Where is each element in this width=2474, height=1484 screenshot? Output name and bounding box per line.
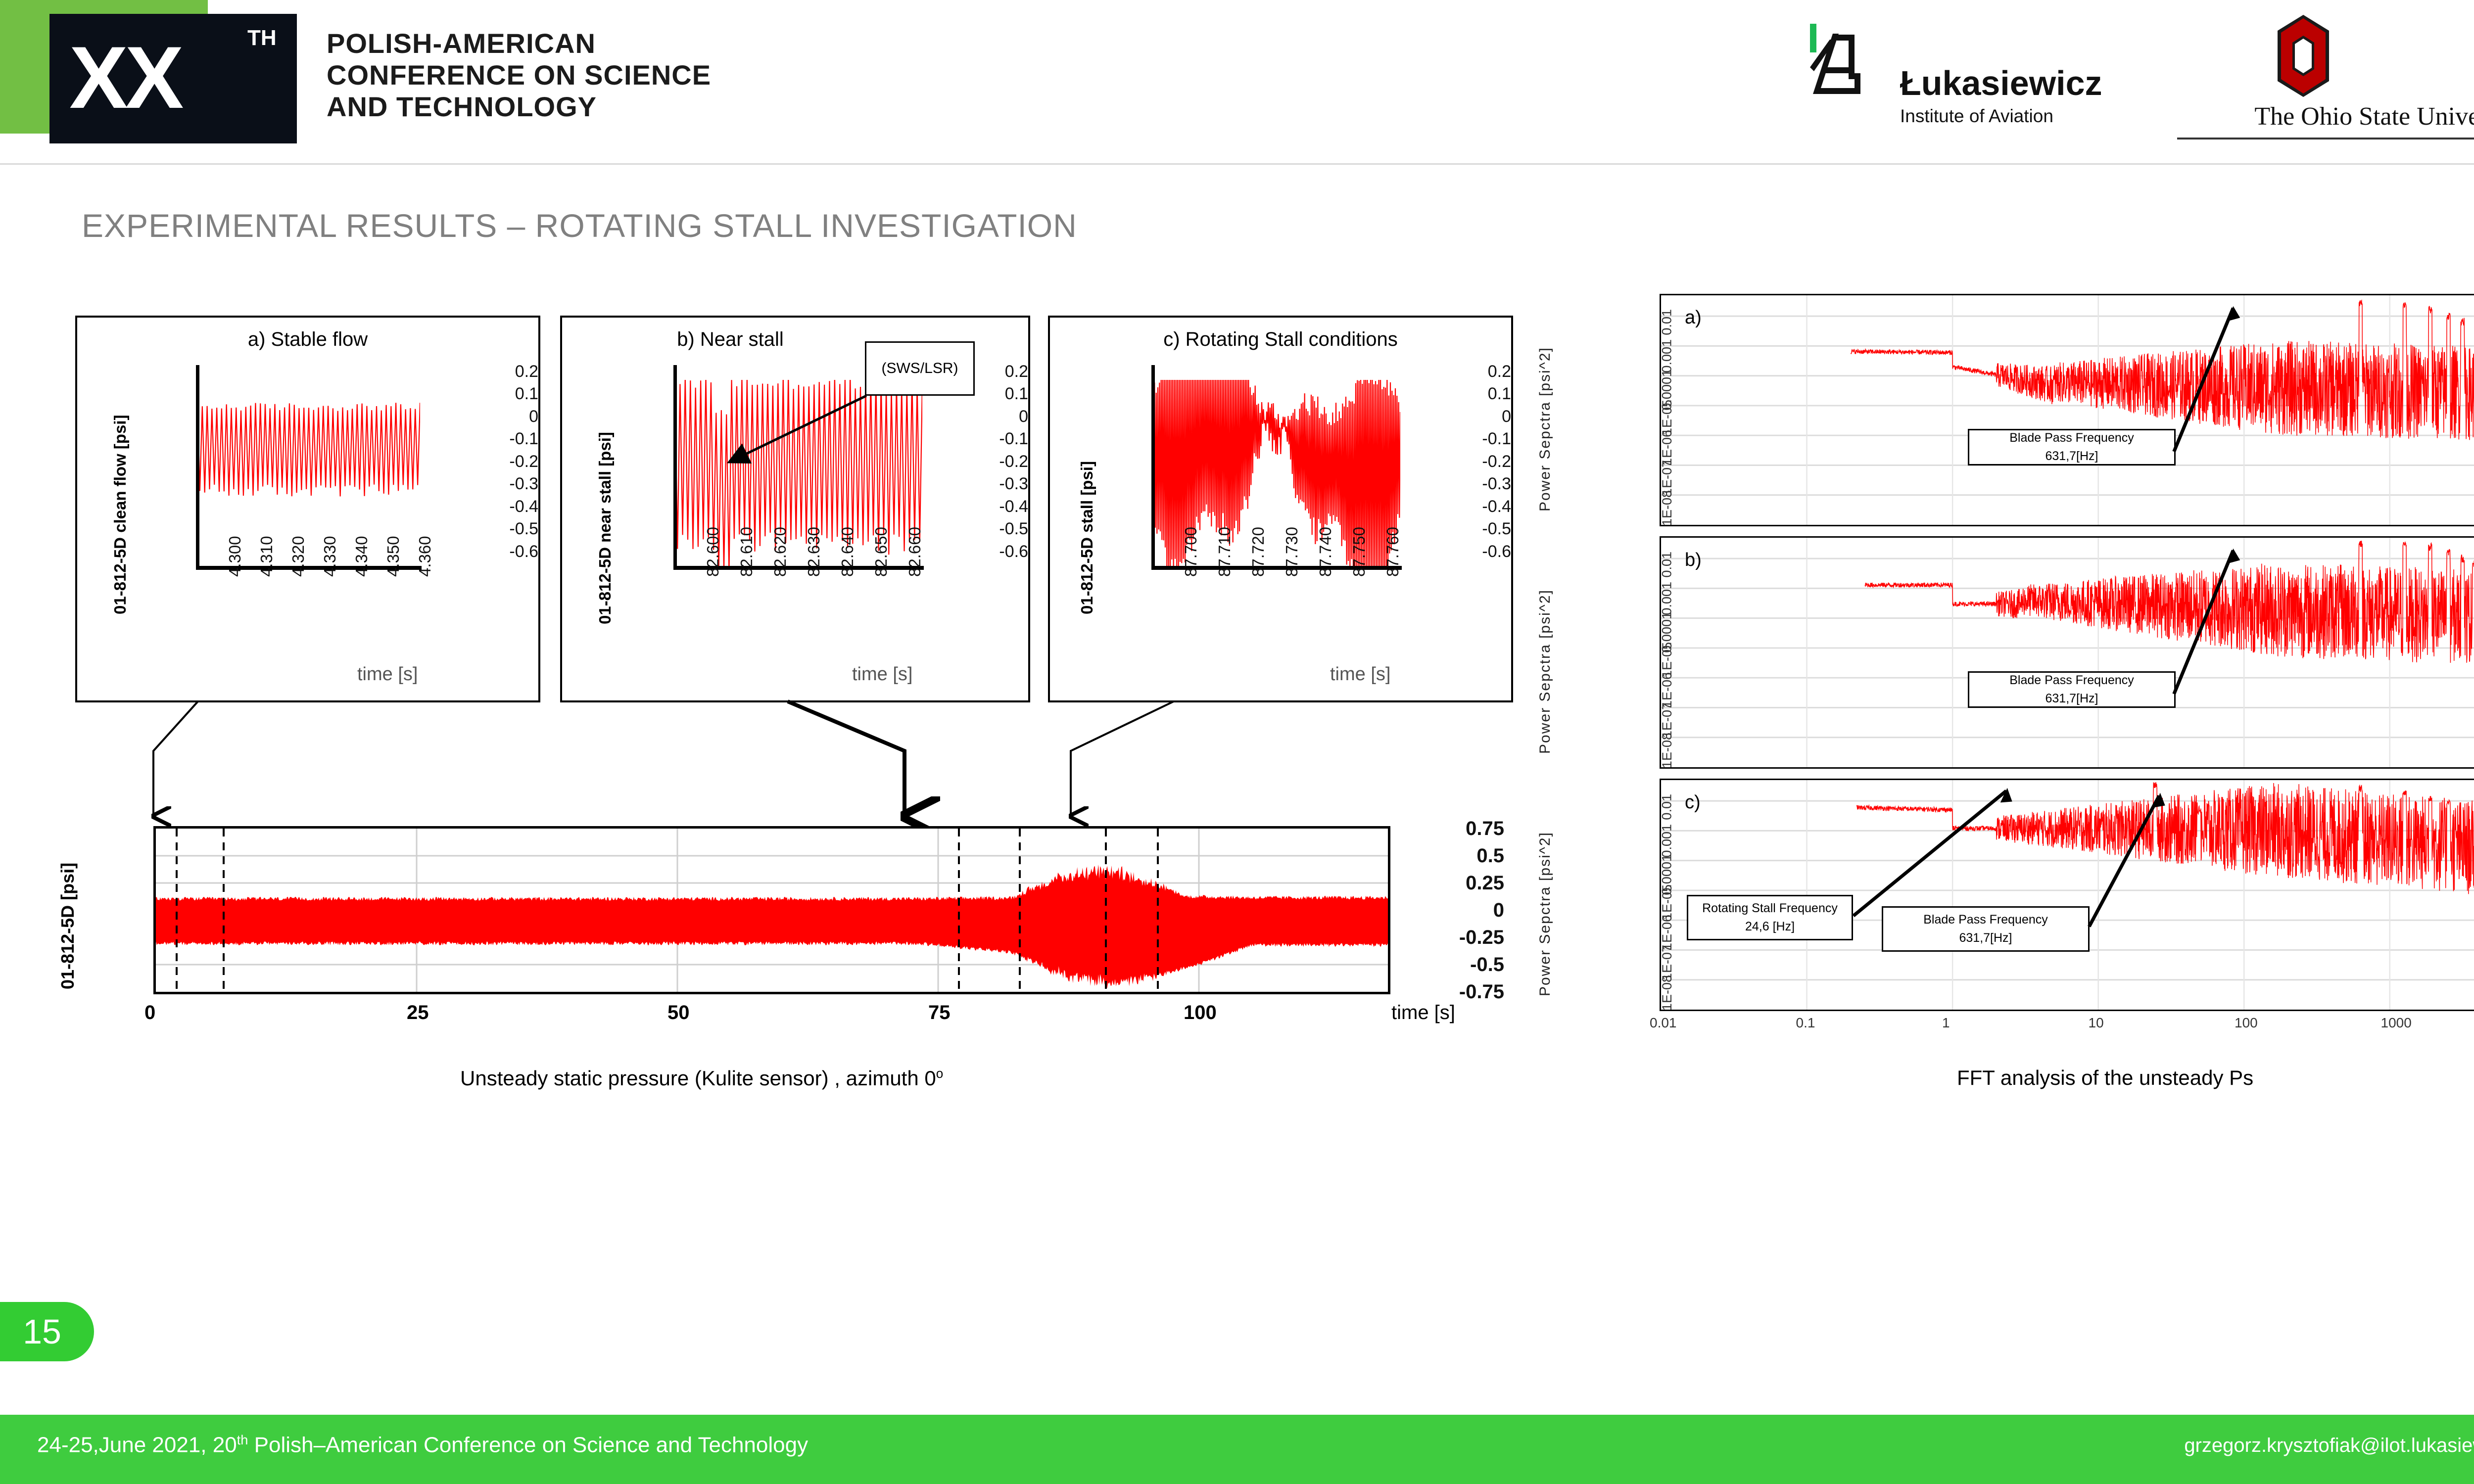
lukasiewicz-logo: Łukasiewicz Institute of Aviation (1801, 20, 2157, 143)
overview-ylabel: 01-812-5D [psi] (57, 863, 78, 989)
page-title: EXPERIMENTAL RESULTS – ROTATING STALL IN… (82, 207, 1077, 244)
fft-xtick: 1000 (2381, 1015, 2412, 1031)
footer-date-prefix: 24-25,June 2021, 20 (37, 1433, 237, 1457)
panel-a-yaxis (196, 365, 199, 569)
lukasiewicz-name: Łukasiewicz (1900, 63, 2102, 103)
fft-a-letter: a) (1685, 307, 1702, 328)
fft-panel-group: a) Blade Pass Frequency 631,7[Hz] b) Bla… (1530, 294, 2474, 1021)
caption-left-text: Unsteady static pressure (Kulite sensor)… (460, 1067, 936, 1090)
fft-a-ylabel: Power Sepctra [psi^2] (1537, 347, 1554, 511)
fft-c-blade-pass-box: Blade Pass Frequency 631,7[Hz] (1882, 906, 2090, 952)
panel-c-ylabel: 01-812-5D stall [psi] (1078, 461, 1096, 614)
footer-ordinal-sup: th (237, 1432, 248, 1447)
caption-right: FFT analysis of the unsteady Ps (1957, 1066, 2253, 1090)
panel-a-xlabel: time [s] (357, 664, 418, 685)
fft-b-blade-pass-value: 631,7[Hz] (2045, 690, 2098, 708)
fft-b-blade-pass-title: Blade Pass Frequency (2009, 671, 2134, 690)
page-number: 15 (0, 1302, 84, 1361)
fft-c-ylabel: Power Sepctra [psi^2] (1537, 832, 1554, 996)
panel-c-yaxis (1151, 365, 1155, 569)
fft-c-letter: c) (1685, 792, 1701, 813)
panel-b-xlabel: time [s] (852, 664, 912, 685)
caption-left: Unsteady static pressure (Kulite sensor)… (460, 1066, 943, 1090)
fft-a-blade-pass-value: 631,7[Hz] (2045, 447, 2098, 466)
fft-a-blade-pass-box: Blade Pass Frequency 631,7[Hz] (1968, 429, 2176, 465)
ohio-state-rule (2177, 138, 2474, 139)
fft-b-ylabel: Power Sepctra [psi^2] (1537, 589, 1554, 754)
fft-c-blade-pass-value: 631,7[Hz] (1959, 929, 2012, 948)
fft-b-plot (1661, 538, 2474, 767)
fft-b-blade-pass-box: Blade Pass Frequency 631,7[Hz] (1968, 671, 2176, 708)
panel-stable-flow: a) Stable flow 01-812-5D clean flow [psi… (75, 316, 540, 702)
panel-rotating-stall: c) Rotating Stall conditions 01-812-5D s… (1048, 316, 1513, 702)
conference-line-2: CONFERENCE ON SCIENCE (327, 59, 1019, 91)
ohio-state-o-icon (2274, 14, 2333, 98)
conference-line-1: POLISH-AMERICAN (327, 28, 1019, 59)
sws-lsr-callout: (SWS/LSR) (865, 341, 975, 396)
footer-conference-info: 24-25,June 2021, 20th Polish–American Co… (37, 1432, 808, 1458)
footer-conference-rest: Polish–American Conference on Science an… (248, 1433, 808, 1457)
caption-left-sup: o (936, 1066, 943, 1081)
panel-b-ylabel: 01-812-5D near stall [psi] (596, 432, 615, 624)
overview-xlabel: time [s] (1391, 1002, 1455, 1024)
logo-ordinal-suffix: TH (247, 26, 277, 50)
fft-a-plot (1661, 295, 2474, 525)
fft-panel-a: a) Blade Pass Frequency 631,7[Hz] (1660, 294, 2474, 526)
panel-b-title: b) Near stall (592, 328, 869, 351)
fft-ytick: 0.001 (1660, 339, 1675, 373)
fft-a-blade-pass-title: Blade Pass Frequency (2009, 429, 2134, 448)
overview-chart: 01-812-5D [psi] 0.75 0.5 0.25 0 -0.25 -0… (40, 791, 1504, 1029)
fft-xtick: 10 (2089, 1015, 2104, 1031)
fft-c-blade-pass-title: Blade Pass Frequency (1923, 911, 2048, 929)
fft-c-rotating-stall-title: Rotating Stall Frequency (1702, 899, 1838, 918)
ohio-state-logo: The Ohio State University (2167, 14, 2474, 142)
fft-xtick: 1 (1942, 1015, 1950, 1031)
conference-line-3: AND TECHNOLOGY (327, 91, 1019, 123)
footer-email: grzegorz.krysztofiak@ilot.lukasiewicz.go… (2184, 1435, 2474, 1457)
overview-plot (153, 826, 1390, 994)
fft-ytick: 0.01 (1660, 552, 1675, 578)
fft-xtick: 0.01 (1650, 1015, 1677, 1031)
fft-ytick: 1E-08 (1660, 975, 1675, 1011)
conference-name: POLISH-AMERICAN CONFERENCE ON SCIENCE AN… (327, 28, 1019, 123)
fft-panel-b: b) Blade Pass Frequency 631,7[Hz] (1660, 536, 2474, 769)
lukasiewicz-subtitle: Institute of Aviation (1900, 106, 2053, 127)
lukasiewicz-mark-icon (1801, 20, 1900, 106)
panel-c-title: c) Rotating Stall conditions (1050, 328, 1511, 351)
ohio-state-name: The Ohio State University (2167, 102, 2474, 131)
slide-header: XX TH POLISH-AMERICAN CONFERENCE ON SCIE… (0, 0, 2474, 163)
fft-xtick: 0.1 (1796, 1015, 1815, 1031)
fft-ytick: 1E-08 (1660, 490, 1675, 526)
fft-ytick: 0.01 (1660, 794, 1675, 820)
fft-xtick: 100 (2235, 1015, 2258, 1031)
logo-xx-text: XX (69, 21, 277, 135)
fft-c-rotating-stall-box: Rotating Stall Frequency 24,6 [Hz] (1687, 895, 1853, 940)
fft-ytick: 0.001 (1660, 582, 1675, 615)
fft-ytick: 0.001 (1660, 824, 1675, 858)
fft-b-letter: b) (1685, 550, 1702, 571)
fft-panel-c: c) Rotating Stall Frequency 24,6 [Hz] Bl… (1660, 779, 2474, 1011)
panel-b-yaxis (673, 365, 677, 569)
header-divider (0, 163, 2474, 165)
panel-c-xlabel: time [s] (1330, 664, 1390, 685)
panel-a-title: a) Stable flow (77, 328, 538, 351)
panel-near-stall: b) Near stall 01-812-5D near stall [psi]… (560, 316, 1030, 702)
panel-a-ylabel: 01-812-5D clean flow [psi] (111, 415, 130, 614)
fft-ytick: 0.01 (1660, 309, 1675, 335)
fft-c-rotating-stall-value: 24,6 [Hz] (1745, 918, 1795, 936)
fft-ytick: 1E-08 (1660, 733, 1675, 768)
